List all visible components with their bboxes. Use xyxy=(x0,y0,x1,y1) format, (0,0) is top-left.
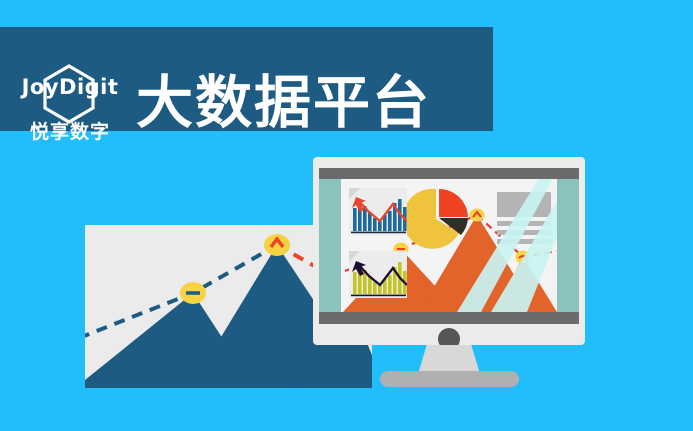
screen-text-placeholder xyxy=(497,192,551,244)
screen-pie-chart[interactable] xyxy=(407,188,469,250)
page-fold-icon xyxy=(349,188,360,199)
text-line xyxy=(497,239,551,244)
monitor-bottom-bezel xyxy=(319,312,579,324)
page-title: 大数据平台 xyxy=(136,71,431,137)
monitor-stand xyxy=(418,345,480,374)
page-fold-icon xyxy=(349,251,360,262)
baseline xyxy=(351,295,406,297)
brand-logo: JoyDigit 悦享数字 xyxy=(14,61,126,153)
screen-right-strip xyxy=(557,179,579,312)
blue-bar-line-card[interactable] xyxy=(349,188,407,235)
monitor-screen xyxy=(319,179,579,312)
screen-left-strip xyxy=(319,179,341,312)
desktop-monitor xyxy=(313,157,585,345)
monitor-base xyxy=(380,371,519,387)
image-placeholder xyxy=(497,192,551,217)
logo-wordmark: JoyDigit xyxy=(14,77,126,98)
header-banner: JoyDigit 悦享数字 大数据平台 xyxy=(0,27,493,131)
text-line xyxy=(497,221,551,226)
dashboard-content xyxy=(341,179,557,312)
poster-canvas: JoyDigit 悦享数字 大数据平台 xyxy=(0,0,693,431)
logo-chinese-name: 悦享数字 xyxy=(14,123,126,142)
text-line xyxy=(497,230,551,235)
olive-bar-line-card[interactable] xyxy=(349,251,407,298)
monitor-top-bezel xyxy=(319,168,579,179)
pie-slice-b xyxy=(439,189,468,217)
baseline xyxy=(351,232,406,234)
